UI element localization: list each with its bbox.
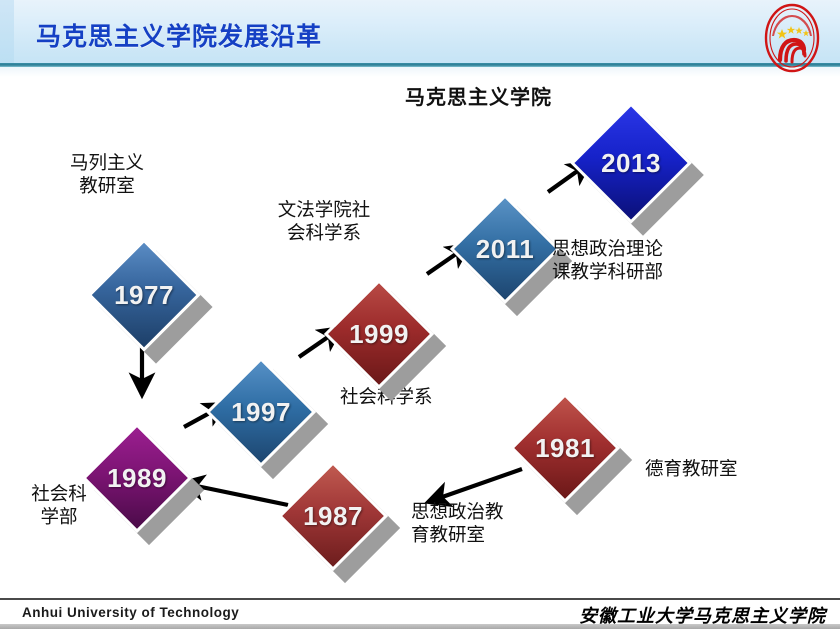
node-2011[interactable]: 2011 [466, 210, 544, 288]
header-under-glow [0, 67, 840, 77]
node-year-label: 2013 [588, 120, 674, 206]
arrow-1981-1987 [428, 469, 522, 502]
caption-1977: 马列主义 教研室 [52, 153, 162, 198]
footer-divider [0, 598, 840, 600]
node-1987[interactable]: 1987 [294, 477, 372, 555]
node-year-label: 1997 [222, 373, 300, 451]
slide-canvas: 马克思主义学院发展沿革 [0, 0, 840, 629]
section-label-marxism-school: 马克思主义学院 [405, 86, 552, 110]
node-1977[interactable]: 1977 [104, 255, 184, 335]
node-year-label: 1989 [98, 439, 176, 517]
caption-1999: 文法学院社 会科学系 [264, 200, 384, 245]
node-1989[interactable]: 1989 [98, 439, 176, 517]
header-accent-bar [0, 0, 14, 63]
node-year-label: 1987 [294, 477, 372, 555]
node-1999[interactable]: 1999 [340, 295, 418, 373]
node-1981[interactable]: 1981 [526, 409, 604, 487]
caption-1987: 思想政治教 育教研室 [411, 502, 504, 547]
page-title: 马克思主义学院发展沿革 [36, 17, 322, 53]
timeline-diagram: 马克思主义学院 1977 马列主义 教研室 1989 社会科 学部 1997 社… [0, 77, 840, 598]
node-year-label: 1981 [526, 409, 604, 487]
node-year-label: 1999 [340, 295, 418, 373]
node-year-label: 1977 [104, 255, 184, 335]
caption-2011: 思想政治理论 课教学科研部 [552, 239, 663, 284]
footer-left-text: Anhui University of Technology [22, 605, 239, 620]
node-2013[interactable]: 2013 [588, 120, 674, 206]
node-1997[interactable]: 1997 [222, 373, 300, 451]
footer-bottom-bar [0, 624, 840, 629]
university-emblem-icon [760, 2, 824, 74]
slide-header: 马克思主义学院发展沿革 [0, 0, 840, 63]
caption-1989: 社会科 学部 [18, 484, 100, 529]
caption-1981: 德育教研室 [645, 459, 738, 482]
node-year-label: 2011 [466, 210, 544, 288]
